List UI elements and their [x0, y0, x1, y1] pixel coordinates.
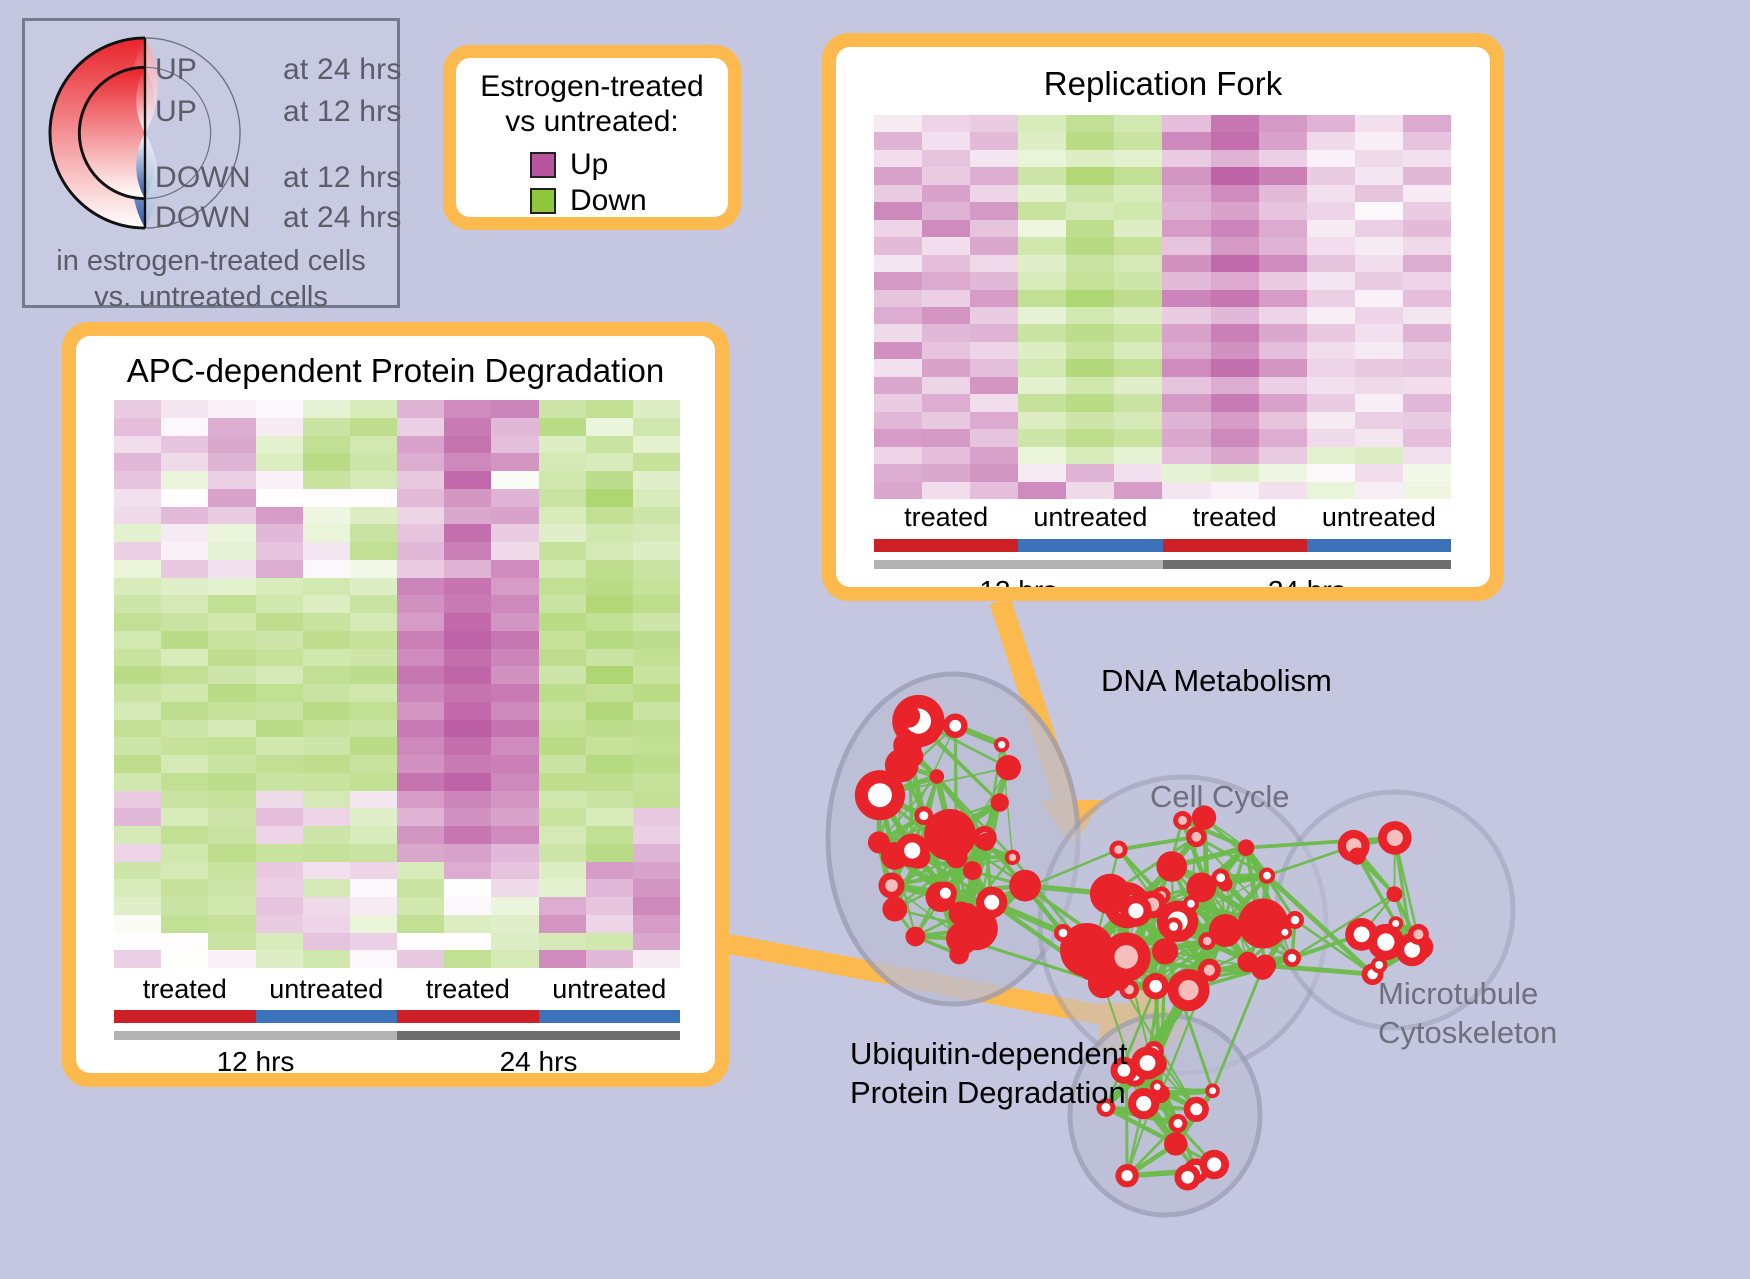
heatmap-cell: [633, 400, 680, 418]
heatmap-cell: [303, 631, 350, 649]
heatmap-cell: [161, 791, 208, 809]
heatmap-cell: [1259, 150, 1307, 167]
heatmap-cell: [539, 631, 586, 649]
heatmap-cell: [922, 132, 970, 149]
heatmap-cell: [1162, 167, 1210, 184]
heatmap-cell: [397, 755, 444, 773]
legend-heading-line1: Estrogen-treated: [456, 70, 728, 105]
heatmap-cell: [1018, 324, 1066, 341]
heatmap-cell: [970, 342, 1018, 359]
colorkey-row-down-12: DOWN at 12 hrs: [155, 161, 402, 195]
heatmap-cell: [491, 879, 538, 897]
heatmap-cell: [1355, 482, 1403, 499]
network-node: [949, 902, 973, 926]
heatmap-cell: [1307, 255, 1355, 272]
heatmap-cell: [922, 237, 970, 254]
heatmap-cell: [1211, 132, 1259, 149]
heatmap-cell: [586, 631, 633, 649]
heatmap-cell: [1355, 324, 1403, 341]
heatmap-cell: [1403, 394, 1451, 411]
heatmap-cell: [922, 394, 970, 411]
heatmap-cell: [161, 578, 208, 596]
network-node-core: [1122, 1170, 1133, 1181]
heatmap-cell: [491, 613, 538, 631]
treatment-bar-replication-fork: [874, 539, 1451, 552]
group-label: treated: [874, 502, 1018, 533]
heatmap-cell: [1114, 342, 1162, 359]
heatmap-cell: [874, 412, 922, 429]
heatmap-cell: [397, 737, 444, 755]
heatmap-cell: [1403, 115, 1451, 132]
heatmap-cell: [1162, 202, 1210, 219]
heatmap-cell: [1355, 132, 1403, 149]
heatmap-cell: [303, 844, 350, 862]
heatmap-cell: [1259, 324, 1307, 341]
heatmap-cell: [114, 436, 161, 454]
heatmap-cell: [1066, 115, 1114, 132]
heatmap-cell: [350, 489, 397, 507]
group-label: untreated: [539, 974, 681, 1005]
colorkey-time: at 24 hrs: [283, 53, 402, 87]
heatmap-cell: [1403, 307, 1451, 324]
network-node-core: [1114, 945, 1138, 969]
heatmap-cell: [1259, 255, 1307, 272]
group-label: treated: [397, 974, 539, 1005]
heatmap-cell: [208, 808, 255, 826]
network-node-core: [1281, 929, 1288, 936]
heatmap-cell: [208, 666, 255, 684]
heatmap-cell: [491, 720, 538, 738]
heatmap-cell: [1114, 272, 1162, 289]
treatment-bar-segment: [397, 1010, 539, 1023]
network-node-core: [1387, 830, 1403, 846]
colorkey-row-up-24: UP at 24 hrs: [155, 53, 402, 87]
heatmap-cell: [256, 897, 303, 915]
heatmap-cell: [208, 844, 255, 862]
network-node-core: [1192, 832, 1202, 842]
heatmap-cell: [256, 524, 303, 542]
heatmap-cell: [633, 489, 680, 507]
heatmap-cell: [161, 418, 208, 436]
heatmap-cell: [397, 453, 444, 471]
heatmap-cell: [1211, 412, 1259, 429]
heatmap-cell: [350, 826, 397, 844]
heatmap-cell: [1066, 342, 1114, 359]
panel-apc-inner: APC-dependent Protein Degradation treate…: [76, 336, 715, 1073]
heatmap-cell: [633, 950, 680, 968]
heatmap-cell: [114, 453, 161, 471]
heatmap-cell: [1403, 237, 1451, 254]
heatmap-cell: [874, 324, 922, 341]
heatmap-cell: [350, 578, 397, 596]
network-node: [906, 927, 926, 947]
heatmap-cell: [874, 185, 922, 202]
network-node-core: [940, 888, 951, 899]
heatmap-cell: [161, 755, 208, 773]
heatmap-cell: [1403, 202, 1451, 219]
heatmap-cell: [1018, 412, 1066, 429]
colorkey-caption-line2: vs. untreated cells: [25, 279, 397, 315]
colorkey-row-down-24: DOWN at 24 hrs: [155, 201, 402, 235]
heatmap-cell: [633, 862, 680, 880]
network-node-core: [1413, 929, 1423, 939]
heatmap-cell: [1355, 412, 1403, 429]
heatmap-cell: [586, 613, 633, 631]
legend-heading: Estrogen-treated vs untreated:: [456, 70, 728, 139]
network-node-core: [1354, 927, 1370, 943]
heatmap-cell: [1211, 255, 1259, 272]
heatmap-cell: [114, 631, 161, 649]
heatmap-cell: [397, 702, 444, 720]
heatmap-cell: [444, 808, 491, 826]
heatmap-cell: [491, 844, 538, 862]
heatmap-cell: [874, 202, 922, 219]
heatmap-cell: [208, 773, 255, 791]
heatmap-cell: [874, 220, 922, 237]
heatmap-cell: [539, 755, 586, 773]
heatmap-cell: [1259, 272, 1307, 289]
heatmap-cell: [303, 666, 350, 684]
heatmap-cell: [1403, 464, 1451, 481]
heatmap-cell: [114, 542, 161, 560]
heatmap-cell: [114, 933, 161, 951]
heatmap-cell: [1114, 220, 1162, 237]
network-node: [1009, 870, 1041, 902]
network-node-core: [984, 895, 999, 910]
heatmap-cell: [970, 185, 1018, 202]
cluster-label-microtubule-cytoskeleton: Microtubule Cytoskeleton: [1378, 975, 1557, 1053]
heatmap-cell: [350, 755, 397, 773]
cluster-label-ubiquitin-dependent-protein-degradation: Ubiquitin-dependent Protein Degradation: [850, 1035, 1128, 1113]
heatmap-cell: [1066, 150, 1114, 167]
heatmap-cell: [444, 844, 491, 862]
heatmap-cell: [114, 702, 161, 720]
network-node-core: [1059, 929, 1068, 938]
heatmap-cell: [397, 489, 444, 507]
heatmap-cell: [444, 684, 491, 702]
heatmap-cell: [303, 950, 350, 968]
heatmap-cell: [114, 915, 161, 933]
heatmap-cell: [586, 595, 633, 613]
treatment-bar-segment: [256, 1010, 398, 1023]
legend-item-up: Up: [530, 150, 608, 180]
network-diagram: DNA Metabolism Cell Cycle Microtubule Cy…: [795, 615, 1750, 1279]
heatmap-cell: [539, 844, 586, 862]
heatmap-cell: [1355, 220, 1403, 237]
heatmap-cell: [1307, 132, 1355, 149]
heatmap-cell: [161, 879, 208, 897]
heatmap-cell: [874, 377, 922, 394]
time-label: 24 hrs: [1163, 575, 1452, 587]
heatmap-cell: [256, 560, 303, 578]
heatmap-cell: [1066, 290, 1114, 307]
heatmap-cell: [1259, 185, 1307, 202]
heatmap-cell: [1114, 150, 1162, 167]
heatmap-cell: [1259, 412, 1307, 429]
network-node-core: [949, 720, 961, 732]
heatmap-cell: [1307, 464, 1355, 481]
heatmap-cell: [397, 773, 444, 791]
heatmap-cell: [444, 631, 491, 649]
heatmap-cell: [303, 471, 350, 489]
heatmap-cell: [633, 453, 680, 471]
heatmap-cell: [874, 150, 922, 167]
heatmap-cell: [922, 185, 970, 202]
heatmap-cell: [208, 613, 255, 631]
heatmap-cell: [874, 307, 922, 324]
heatmap-cell: [161, 915, 208, 933]
heatmap-cell: [491, 915, 538, 933]
heatmap-cell: [350, 737, 397, 755]
heatmap-cell: [350, 808, 397, 826]
heatmap-cell: [1259, 482, 1307, 499]
heatmap-cell: [114, 773, 161, 791]
heatmap-cell: [633, 613, 680, 631]
treatment-bar-segment: [1163, 539, 1307, 552]
heatmap-cell: [1114, 290, 1162, 307]
heatmap-cell: [633, 755, 680, 773]
group-labels-replication-fork: treated untreated treated untreated: [874, 502, 1451, 533]
heatmap-cell: [444, 542, 491, 560]
heatmap-cell: [303, 507, 350, 525]
heatmap-cell: [1307, 220, 1355, 237]
heatmap-cell: [633, 879, 680, 897]
group-label: untreated: [1018, 502, 1162, 533]
heatmap-replication-fork: [874, 115, 1451, 499]
heatmap-cell: [1355, 202, 1403, 219]
heatmap-cell: [1018, 307, 1066, 324]
legend-panel: Estrogen-treated vs untreated: Up Down: [443, 45, 741, 230]
heatmap-cell: [1066, 377, 1114, 394]
network-node-core: [1263, 872, 1271, 880]
network-node: [882, 897, 907, 922]
heatmap-cell: [1114, 359, 1162, 376]
time-label: 24 hrs: [397, 1046, 680, 1073]
heatmap-cell: [350, 915, 397, 933]
network-node-core: [1169, 922, 1178, 931]
heatmap-cell: [1355, 377, 1403, 394]
heatmap-cell: [1162, 412, 1210, 429]
heatmap-cell: [922, 359, 970, 376]
heatmap-cell: [303, 524, 350, 542]
heatmap-cell: [1259, 132, 1307, 149]
heatmap-cell: [444, 507, 491, 525]
heatmap-cell: [922, 429, 970, 446]
heatmap-cell: [208, 542, 255, 560]
heatmap-cell: [970, 394, 1018, 411]
heatmap-cell: [444, 666, 491, 684]
heatmap-cell: [633, 631, 680, 649]
heatmap-cell: [539, 453, 586, 471]
heatmap-cell: [303, 879, 350, 897]
heatmap-cell: [1211, 150, 1259, 167]
heatmap-cell: [1307, 115, 1355, 132]
heatmap-cell: [922, 150, 970, 167]
heatmap-cell: [922, 412, 970, 429]
heatmap-cell: [1114, 482, 1162, 499]
heatmap-cell: [161, 595, 208, 613]
network-node-core: [1181, 1171, 1194, 1184]
heatmap-cell: [539, 595, 586, 613]
heatmap-cell: [1066, 272, 1114, 289]
heatmap-cell: [1066, 255, 1114, 272]
heatmap-cell: [633, 702, 680, 720]
heatmap-cell: [397, 862, 444, 880]
heatmap-cell: [586, 400, 633, 418]
heatmap-cell: [633, 471, 680, 489]
network-node: [1349, 848, 1366, 865]
heatmap-cell: [444, 933, 491, 951]
heatmap-cell: [1259, 447, 1307, 464]
heatmap-cell: [539, 471, 586, 489]
heatmap-cell: [114, 595, 161, 613]
network-node: [1209, 914, 1242, 947]
heatmap-cell: [1403, 220, 1451, 237]
network-node-core: [1154, 1084, 1161, 1091]
heatmap-cell: [491, 649, 538, 667]
heatmap-cell: [1355, 150, 1403, 167]
heatmap-cell: [1162, 377, 1210, 394]
heatmap-cell: [1114, 255, 1162, 272]
heatmap-cell: [1066, 132, 1114, 149]
heatmap-cell: [208, 862, 255, 880]
heatmap-cell: [397, 808, 444, 826]
heatmap-cell: [586, 649, 633, 667]
legend-panel-inner: Estrogen-treated vs untreated: Up Down: [456, 58, 728, 217]
heatmap-cell: [970, 377, 1018, 394]
group-label: untreated: [256, 974, 398, 1005]
heatmap-cell: [491, 542, 538, 560]
heatmap-cell: [1066, 307, 1114, 324]
network-node-core: [1377, 933, 1394, 950]
heatmap-cell: [1066, 447, 1114, 464]
heatmap-cell: [303, 755, 350, 773]
heatmap-cell: [256, 666, 303, 684]
heatmap-cell: [444, 879, 491, 897]
heatmap-cell: [633, 915, 680, 933]
heatmap-cell: [1403, 167, 1451, 184]
heatmap-cell: [1211, 185, 1259, 202]
network-node: [1238, 952, 1259, 973]
heatmap-cell: [114, 897, 161, 915]
treatment-bar-segment: [874, 539, 1018, 552]
heatmap-cell: [114, 844, 161, 862]
heatmap-cell: [397, 897, 444, 915]
heatmap-cell: [350, 684, 397, 702]
heatmap-cell: [970, 290, 1018, 307]
network-node-core: [1375, 961, 1383, 969]
heatmap-cell: [350, 507, 397, 525]
time-bar-segment: [874, 560, 1163, 569]
heatmap-cell: [970, 482, 1018, 499]
heatmap-cell: [114, 471, 161, 489]
heatmap-cell: [970, 412, 1018, 429]
time-labels-apc: 12 hrs 24 hrs: [114, 1046, 680, 1073]
heatmap-cell: [1307, 185, 1355, 202]
heatmap-cell: [539, 684, 586, 702]
heatmap-cell: [586, 471, 633, 489]
heatmap-cell: [491, 684, 538, 702]
heatmap-cell: [1114, 202, 1162, 219]
heatmap-cell: [303, 826, 350, 844]
heatmap-cell: [161, 950, 208, 968]
heatmap-cell: [1355, 429, 1403, 446]
group-labels-apc: treated untreated treated untreated: [114, 974, 680, 1005]
heatmap-cell: [350, 720, 397, 738]
heatmap-cell: [256, 453, 303, 471]
heatmap-cell: [491, 826, 538, 844]
heatmap-cell: [114, 578, 161, 596]
heatmap-cell: [256, 489, 303, 507]
heatmap-cell: [1211, 307, 1259, 324]
heatmap-cell: [208, 915, 255, 933]
heatmap-cell: [1114, 324, 1162, 341]
heatmap-cell: [208, 720, 255, 738]
heatmap-cell: [397, 560, 444, 578]
heatmap-cell: [1307, 150, 1355, 167]
heatmap-cell: [303, 933, 350, 951]
heatmap-cell: [970, 202, 1018, 219]
network-node: [1238, 899, 1288, 949]
heatmap-cell: [444, 862, 491, 880]
heatmap-cell: [444, 560, 491, 578]
heatmap-cell: [350, 542, 397, 560]
heatmap-cell: [539, 737, 586, 755]
heatmap-cell: [1355, 394, 1403, 411]
network-node: [1164, 1132, 1187, 1155]
time-bar-apc: [114, 1031, 680, 1040]
heatmap-cell: [491, 471, 538, 489]
heatmap-cell: [444, 578, 491, 596]
heatmap-cell: [922, 377, 970, 394]
heatmap-cell: [970, 307, 1018, 324]
heatmap-cell: [1211, 482, 1259, 499]
heatmap-cell: [256, 418, 303, 436]
network-node-core: [868, 783, 892, 807]
heatmap-cell: [444, 489, 491, 507]
heatmap-cell: [586, 418, 633, 436]
heatmap-cell: [922, 290, 970, 307]
heatmap-cell: [397, 400, 444, 418]
heatmap-cell: [208, 400, 255, 418]
heatmap-cell: [1162, 272, 1210, 289]
heatmap-cell: [1307, 342, 1355, 359]
heatmap-cell: [922, 342, 970, 359]
heatmap-cell: [1355, 464, 1403, 481]
heatmap-cell: [970, 220, 1018, 237]
heatmap-cell: [970, 150, 1018, 167]
heatmap-cell: [114, 879, 161, 897]
heatmap-cell: [161, 897, 208, 915]
heatmap-cell: [1018, 359, 1066, 376]
treatment-bar-segment: [1307, 539, 1451, 552]
network-node: [1387, 886, 1403, 902]
heatmap-cell: [1403, 429, 1451, 446]
heatmap-cell: [586, 791, 633, 809]
network-node-core: [1204, 965, 1215, 976]
heatmap-cell: [586, 542, 633, 560]
colorkey-time: at 12 hrs: [283, 161, 402, 195]
heatmap-cell: [208, 897, 255, 915]
heatmap-cell: [1403, 377, 1451, 394]
group-label: treated: [114, 974, 256, 1005]
heatmap-cell: [1259, 290, 1307, 307]
heatmap-cell: [397, 720, 444, 738]
heatmap-cell: [539, 808, 586, 826]
heatmap-cell: [1307, 324, 1355, 341]
heatmap-cell: [256, 773, 303, 791]
heatmap-cell: [161, 684, 208, 702]
